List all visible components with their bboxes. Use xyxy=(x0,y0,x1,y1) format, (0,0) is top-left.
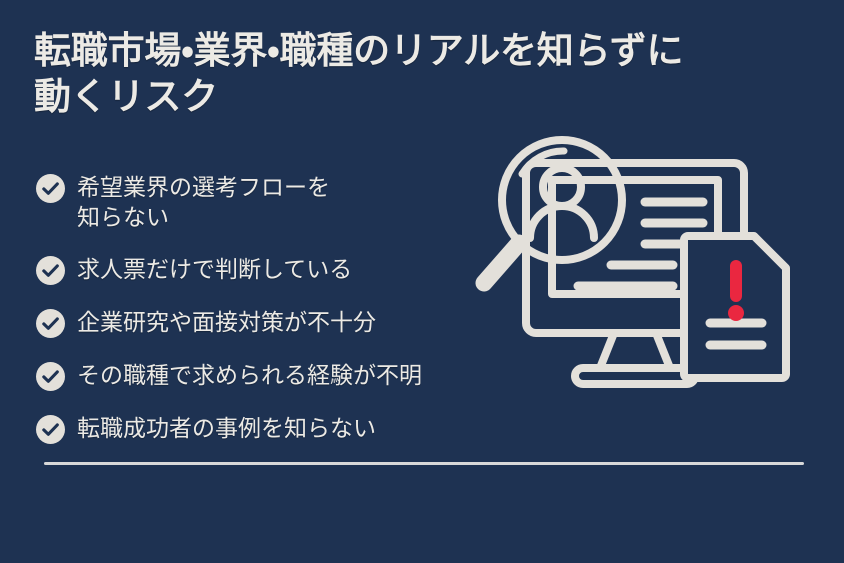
page-title-line-2: 動くリスク xyxy=(34,74,824,120)
list-item-label: 希望業界の選考フローを 知らない xyxy=(77,172,330,232)
magnifier-monitor-alert-illustration xyxy=(470,128,820,400)
list-item: その職種で求められる経験が不明 xyxy=(36,360,506,391)
magnifier-handle xyxy=(484,243,519,283)
check-circle-icon xyxy=(36,256,65,285)
page-title-line-1: 転職市場・業界・職種のリアルを知らずに xyxy=(34,28,824,74)
page-title: 転職市場・業界・職種のリアルを知らずに 動くリスク xyxy=(34,28,824,120)
check-circle-icon xyxy=(36,415,65,444)
list-item-label: 転職成功者の事例を知らない xyxy=(77,413,376,443)
check-circle-icon xyxy=(36,174,65,203)
check-circle-icon xyxy=(36,309,65,338)
exclamation-mark-icon xyxy=(728,260,744,321)
check-circle-icon xyxy=(36,362,65,391)
monitor-stand xyxy=(600,333,670,368)
list-item: 転職成功者の事例を知らない xyxy=(36,413,506,444)
list-item-label: その職種で求められる経験が不明 xyxy=(77,360,422,390)
person-body xyxy=(530,206,594,238)
list-item: 求人票だけで判断している xyxy=(36,254,506,285)
slide-root: 転職市場・業界・職種のリアルを知らずに 動くリスク 希望業界の選考フローを 知ら… xyxy=(0,0,844,563)
list-item: 希望業界の選考フローを 知らない xyxy=(36,172,506,232)
list-item: 企業研究や面接対策が不十分 xyxy=(36,307,506,338)
monitor-base xyxy=(575,368,695,384)
risk-bullet-list: 希望業界の選考フローを 知らない 求人票だけで判断している 企業研究や面接対策が… xyxy=(36,172,506,444)
footer-divider xyxy=(44,462,804,465)
list-item-label: 求人票だけで判断している xyxy=(77,254,352,284)
list-item-label: 企業研究や面接対策が不十分 xyxy=(77,307,376,337)
